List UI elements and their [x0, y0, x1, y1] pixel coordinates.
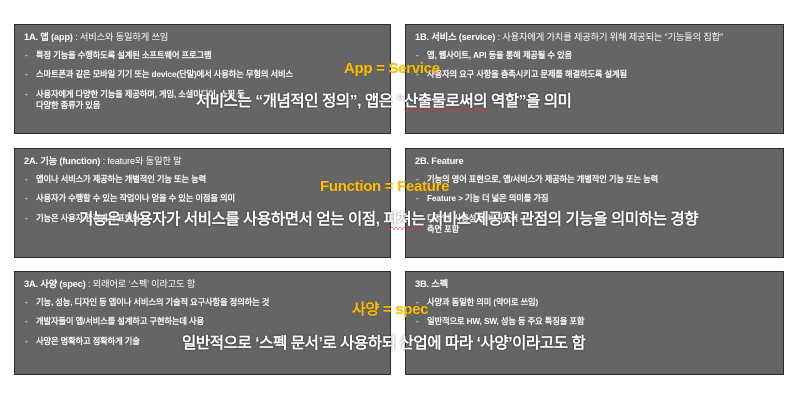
dash-icon: -	[25, 174, 28, 185]
summary-text-row1: 서비스는 “개념적인 정의”, 앱은 “산출물로써의 역할”을 의미	[196, 89, 572, 111]
panel-1b-title-code: 1B. 서비스 (service)	[415, 32, 495, 42]
dash-icon: -	[25, 89, 28, 100]
dash-icon: -	[25, 193, 28, 204]
panel-3a-title: 3A. 사양 (spec) : 외래어로 ‘스펙’ 이라고도 함	[24, 279, 381, 290]
summary-row2-part-a: 기능은 사용자가 서비스를 사용하면서 얻는 이점,	[79, 211, 384, 228]
summary-row2-part-b: 서비스 제공자 관점의 기능을 의미하는 경향	[425, 211, 698, 228]
list-item: -스마트폰과 같은 모바일 기기 또는 device(단말)에서 사용하는 무형…	[24, 69, 381, 80]
panel-3b-title: 3B. 스펙	[415, 279, 774, 290]
panel-2a-title-rest: : feature와 동일한 말	[100, 156, 181, 166]
panel-1b-title-rest: : 사용자에게 가치를 제공하기 위해 제공되는 “기능들의 집합”	[495, 32, 723, 42]
panel-3b-title-code: 3B. 스펙	[415, 279, 448, 289]
panel-3b-bullets: -사양과 동일한 의미 (약어로 쓰임) -일반적으로 HW, SW, 성능 등…	[415, 297, 774, 327]
list-item-text: 앱, 웹사이트, API 등을 통해 제공될 수 있음	[427, 50, 572, 60]
list-item: -개발자들이 앱/서비스를 설계하고 구현하는데 사용	[24, 316, 381, 327]
list-item-text: 기능, 성능, 디자인 등 앱이나 서비스의 기술적 요구사항을 정의하는 것	[36, 297, 269, 307]
list-item-text: 사용자의 요구 사항을 충족시키고 문제를 해결하도록 설계됨	[427, 69, 627, 79]
list-item-text: 특정 기능을 수행하도록 설계된 소프트웨어 프로그램	[36, 50, 211, 60]
summary-row1-spellcheck: 산출물로써의	[404, 89, 487, 111]
dash-icon: -	[25, 50, 28, 61]
annotation-spec-equals-spec: 사양 = spec	[352, 298, 428, 319]
panel-2b-title: 2B. Feature	[415, 156, 774, 167]
panel-3a-title-rest: : 외래어로 ‘스펙’ 이라고도 함	[86, 279, 196, 289]
list-item-text: 사양과 동일한 의미 (약어로 쓰임)	[427, 297, 538, 307]
list-item: -특정 기능을 수행하도록 설계된 소프트웨어 프로그램	[24, 50, 381, 61]
panel-2a-title-code: 2A. 기능 (function)	[24, 156, 100, 166]
list-item: -사양과 동일한 의미 (약어로 쓰임)	[415, 297, 774, 308]
panel-1b-title: 1B. 서비스 (service) : 사용자에게 가치를 제공하기 위해 제공…	[415, 32, 774, 43]
panel-1a-title: 1A. 앱 (app) : 서비스와 동일하게 쓰임	[24, 32, 381, 43]
list-item: -사용자의 요구 사항을 충족시키고 문제를 해결하도록 설계됨	[415, 69, 774, 80]
list-item-text: 사용자가 수행할 수 있는 작업이나 얻을 수 있는 이점을 의미	[36, 193, 235, 203]
panel-1a-title-rest: : 서비스와 동일하게 쓰임	[73, 32, 168, 42]
summary-row3-part-a: 일반적으로 ‘스펙 문서’로 사용하되 산업에 따라 ‘사양’이라고도 함	[182, 335, 585, 352]
panel-1a: 1A. 앱 (app) : 서비스와 동일하게 쓰임 -특정 기능을 수행하도록…	[14, 24, 391, 134]
list-item: -기능의 영어 표현으로, 앱/서비스가 제공하는 개별적인 기능 또는 능력	[415, 174, 774, 185]
panel-2b-title-code: 2B. Feature	[415, 156, 463, 166]
panel-2b: 2B. Feature -기능의 영어 표현으로, 앱/서비스가 제공하는 개별…	[405, 148, 784, 258]
summary-row1-part-b: 역할”을 의미	[487, 93, 571, 110]
panel-1b-bullets: -앱, 웹사이트, API 등을 통해 제공될 수 있음 -사용자의 요구 사항…	[415, 50, 774, 80]
panel-1a-title-code: 1A. 앱 (app)	[24, 32, 73, 42]
list-item-text: 일반적으로 HW, SW, 성능 등 주요 특징을 포함	[427, 316, 584, 326]
list-item-text: 스마트폰과 같은 모바일 기기 또는 device(단말)에서 사용하는 무형의…	[36, 69, 293, 79]
panel-1b: 1B. 서비스 (service) : 사용자에게 가치를 제공하기 위해 제공…	[405, 24, 784, 134]
dash-icon: -	[25, 213, 28, 224]
list-item: -일반적으로 HW, SW, 성능 등 주요 특징을 포함	[415, 316, 774, 327]
dash-icon: -	[25, 316, 28, 327]
list-item: -앱, 웹사이트, API 등을 통해 제공될 수 있음	[415, 50, 774, 61]
list-item-text: 사양은 명확하고 정확하게 기술	[36, 336, 140, 346]
annotation-app-equals-service: App = Service	[344, 60, 440, 77]
summary-text-row3: 일반적으로 ‘스펙 문서’로 사용하되 산업에 따라 ‘사양’이라고도 함	[182, 331, 585, 353]
panel-3b: 3B. 스펙 -사양과 동일한 의미 (약어로 쓰임) -일반적으로 HW, S…	[405, 271, 784, 375]
slide-canvas: 1A. 앱 (app) : 서비스와 동일하게 쓰임 -특정 기능을 수행하도록…	[0, 0, 800, 400]
panel-3a-title-code: 3A. 사양 (spec)	[24, 279, 86, 289]
panel-2a-title: 2A. 기능 (function) : feature와 동일한 말	[24, 156, 381, 167]
summary-row2-spellcheck: 피쳐는	[384, 207, 426, 229]
list-item-text: 개발자들이 앱/서비스를 설계하고 구현하는데 사용	[36, 316, 204, 326]
list-item: -기능, 성능, 디자인 등 앱이나 서비스의 기술적 요구사항을 정의하는 것	[24, 297, 381, 308]
annotation-function-equals-feature: Function = Feature	[320, 178, 449, 195]
dash-icon: -	[416, 193, 419, 204]
dash-icon: -	[25, 69, 28, 80]
list-item-text: 기능의 영어 표현으로, 앱/서비스가 제공하는 개별적인 기능 또는 능력	[427, 174, 658, 184]
dash-icon: -	[25, 297, 28, 308]
panel-2a: 2A. 기능 (function) : feature와 동일한 말 -앱이나 …	[14, 148, 391, 258]
summary-text-row2: 기능은 사용자가 서비스를 사용하면서 얻는 이점, 피쳐는 서비스 제공자 관…	[79, 207, 698, 229]
list-item: -Feature > 기능 더 넓은 의미를 가짐	[415, 193, 774, 204]
dash-icon: -	[25, 336, 28, 347]
list-item-text: 앱이나 서비스가 제공하는 개별적인 기능 또는 능력	[36, 174, 206, 184]
list-item: -사용자가 수행할 수 있는 작업이나 얻을 수 있는 이점을 의미	[24, 193, 381, 204]
panel-3a: 3A. 사양 (spec) : 외래어로 ‘스펙’ 이라고도 함 -기능, 성능…	[14, 271, 391, 375]
summary-row1-part-a: 서비스는 “개념적인 정의”, 앱은 “	[196, 93, 404, 110]
